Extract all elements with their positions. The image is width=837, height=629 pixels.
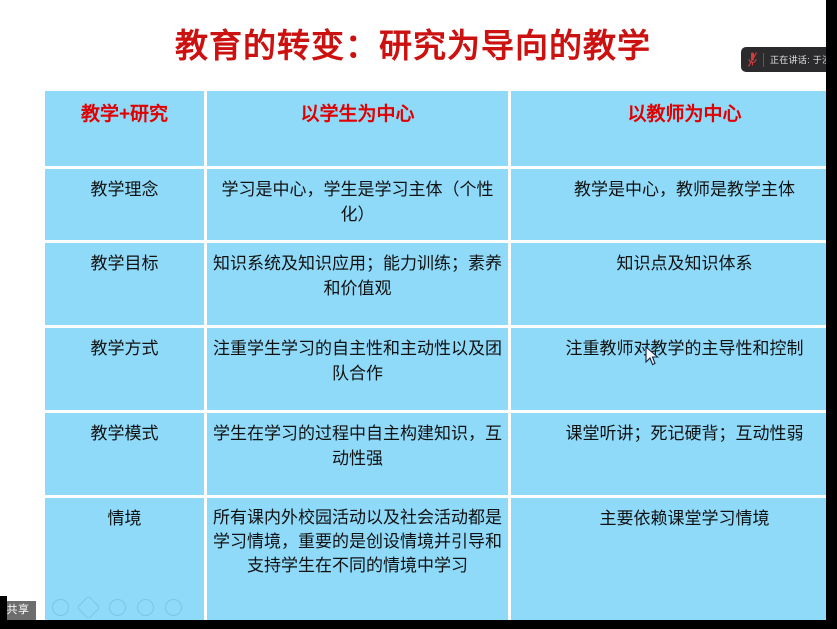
annotation-toolbar[interactable]	[52, 597, 182, 617]
page-title: 教育的转变：研究为导向的教学	[0, 26, 826, 66]
eraser-icon[interactable]	[137, 599, 154, 616]
pen-icon[interactable]	[77, 595, 101, 619]
letterbox-bottom	[0, 620, 837, 629]
cell-student-centered: 学生在学习的过程中自主构建知识，互动性强	[207, 413, 508, 495]
table-row: 教学模式 学生在学习的过程中自主构建知识，互动性强 课堂听讲；死记硬背；互动性弱	[45, 413, 837, 495]
comparison-table: 教学+研究 以学生为中心 以教师为中心 教学理念 学习是中心，学生是学习主体（个…	[42, 88, 837, 629]
column-header-category: 教学+研究	[45, 91, 204, 166]
active-speaker-badge[interactable]: 正在讲话: 于漫	[741, 47, 837, 72]
cell-teacher-centered: 课堂听讲；死记硬背；互动性弱	[511, 413, 837, 495]
column-header-student-centered: 以学生为中心	[207, 91, 508, 166]
row-label: 教学理念	[45, 169, 204, 240]
clear-icon[interactable]	[165, 599, 182, 616]
cell-student-centered: 注重学生学习的自主性和主动性以及团队合作	[207, 328, 508, 410]
cell-student-centered: 知识系统及知识应用；能力训练；素养和价值观	[207, 243, 508, 325]
letterbox-left	[0, 596, 7, 620]
letterbox-right	[826, 0, 837, 629]
column-header-teacher-centered: 以教师为中心	[511, 91, 837, 166]
table-row: 教学目标 知识系统及知识应用；能力训练；素养和价值观 知识点及知识体系	[45, 243, 837, 325]
text-icon[interactable]	[109, 599, 126, 616]
shared-screen: 教育的转变：研究为导向的教学 教学+研究 以学生为中心 以教师为中心 教学理念 …	[0, 0, 837, 629]
cell-teacher-centered: 知识点及知识体系	[511, 243, 837, 325]
microphone-icon	[741, 52, 763, 67]
table-row: 教学方式 注重学生学习的自主性和主动性以及团队合作 注重教师对教学的主导性和控制	[45, 328, 837, 410]
active-speaker-label: 正在讲话: 于漫	[764, 53, 831, 66]
presentation-slide: 教育的转变：研究为导向的教学 教学+研究 以学生为中心 以教师为中心 教学理念 …	[0, 0, 826, 620]
row-label: 教学模式	[45, 413, 204, 495]
mouse-pointer-icon[interactable]	[52, 599, 69, 616]
table-header-row: 教学+研究 以学生为中心 以教师为中心	[45, 91, 837, 166]
cell-teacher-centered: 教学是中心，教师是教学主体	[511, 169, 837, 240]
row-label: 教学方式	[45, 328, 204, 410]
row-label: 教学目标	[45, 243, 204, 325]
cell-student-centered: 学习是中心，学生是学习主体（个性化）	[207, 169, 508, 240]
cell-teacher-centered: 主要依赖课堂学习情境	[511, 498, 837, 629]
table-row: 教学理念 学习是中心，学生是学习主体（个性化） 教学是中心，教师是教学主体	[45, 169, 837, 240]
cell-teacher-centered: 注重教师对教学的主导性和控制	[511, 328, 837, 410]
cell-student-centered: 所有课内外校园活动以及社会活动都是学习情境，重要的是创设情境并引导和支持学生在不…	[207, 498, 508, 629]
